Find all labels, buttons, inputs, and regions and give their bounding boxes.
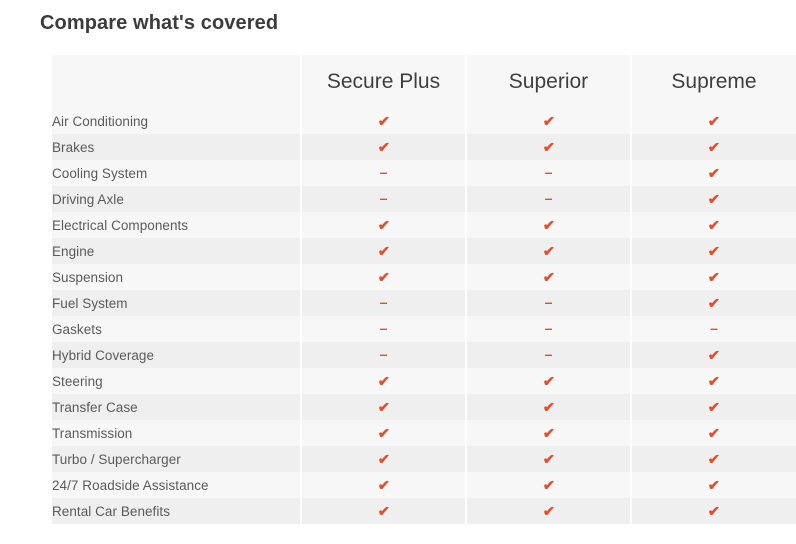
table-row: Air Conditioning✔✔✔ bbox=[52, 108, 796, 134]
table-row: Turbo / Supercharger✔✔✔ bbox=[52, 446, 796, 472]
feature-label: Cooling System bbox=[52, 160, 301, 186]
table-row: 24/7 Roadside Assistance✔✔✔ bbox=[52, 472, 796, 498]
coverage-cell-superior: ✔ bbox=[466, 212, 631, 238]
check-icon: ✔ bbox=[377, 498, 389, 524]
check-icon: ✔ bbox=[708, 342, 720, 368]
page-title: Compare what's covered bbox=[40, 9, 278, 37]
coverage-cell-supreme: ✔ bbox=[631, 290, 796, 316]
feature-label: Fuel System bbox=[52, 290, 301, 316]
check-icon: ✔ bbox=[708, 368, 720, 394]
coverage-cell-superior: – bbox=[466, 160, 631, 186]
coverage-cell-secure-plus: ✔ bbox=[301, 394, 466, 420]
dash-icon: – bbox=[545, 341, 553, 367]
coverage-cell-supreme: ✔ bbox=[631, 420, 796, 446]
check-icon: ✔ bbox=[542, 134, 554, 160]
coverage-cell-supreme: ✔ bbox=[631, 342, 796, 368]
coverage-cell-secure-plus: – bbox=[301, 186, 466, 212]
table-row: Fuel System––✔ bbox=[52, 290, 796, 316]
dash-icon: – bbox=[545, 289, 553, 315]
coverage-comparison-table: Secure Plus Superior Supreme Air Conditi… bbox=[52, 55, 796, 524]
feature-label: Gaskets bbox=[52, 316, 301, 342]
check-icon: ✔ bbox=[542, 108, 554, 134]
feature-label: 24/7 Roadside Assistance bbox=[52, 472, 301, 498]
coverage-cell-superior: ✔ bbox=[466, 420, 631, 446]
check-icon: ✔ bbox=[377, 108, 389, 134]
check-icon: ✔ bbox=[377, 472, 389, 498]
check-icon: ✔ bbox=[542, 368, 554, 394]
coverage-cell-supreme: ✔ bbox=[631, 160, 796, 186]
table-row: Suspension✔✔✔ bbox=[52, 264, 796, 290]
check-icon: ✔ bbox=[377, 394, 389, 420]
check-icon: ✔ bbox=[377, 212, 389, 238]
table-row: Transfer Case✔✔✔ bbox=[52, 394, 796, 420]
check-icon: ✔ bbox=[708, 186, 720, 212]
coverage-cell-secure-plus: – bbox=[301, 290, 466, 316]
check-icon: ✔ bbox=[708, 498, 720, 524]
dash-icon: – bbox=[380, 341, 388, 367]
coverage-cell-secure-plus: ✔ bbox=[301, 446, 466, 472]
check-icon: ✔ bbox=[542, 394, 554, 420]
check-icon: ✔ bbox=[708, 212, 720, 238]
coverage-cell-secure-plus: – bbox=[301, 316, 466, 342]
feature-label: Electrical Components bbox=[52, 212, 301, 238]
dash-icon: – bbox=[380, 315, 388, 341]
check-icon: ✔ bbox=[377, 420, 389, 446]
check-icon: ✔ bbox=[542, 264, 554, 290]
coverage-cell-supreme: ✔ bbox=[631, 238, 796, 264]
check-icon: ✔ bbox=[377, 238, 389, 264]
coverage-cell-secure-plus: ✔ bbox=[301, 238, 466, 264]
coverage-cell-secure-plus: – bbox=[301, 342, 466, 368]
coverage-cell-supreme: ✔ bbox=[631, 472, 796, 498]
coverage-cell-supreme: ✔ bbox=[631, 186, 796, 212]
dash-icon: – bbox=[380, 185, 388, 211]
coverage-cell-secure-plus: ✔ bbox=[301, 212, 466, 238]
coverage-cell-supreme: ✔ bbox=[631, 446, 796, 472]
coverage-cell-secure-plus: ✔ bbox=[301, 420, 466, 446]
column-header-superior: Superior bbox=[466, 55, 631, 108]
column-header-supreme: Supreme bbox=[631, 55, 796, 108]
feature-label: Steering bbox=[52, 368, 301, 394]
check-icon: ✔ bbox=[542, 446, 554, 472]
table-body: Air Conditioning✔✔✔Brakes✔✔✔Cooling Syst… bbox=[52, 108, 796, 524]
coverage-cell-superior: – bbox=[466, 342, 631, 368]
table-row: Cooling System––✔ bbox=[52, 160, 796, 186]
coverage-cell-secure-plus: ✔ bbox=[301, 368, 466, 394]
check-icon: ✔ bbox=[377, 134, 389, 160]
table-header: Secure Plus Superior Supreme bbox=[52, 55, 796, 108]
feature-label: Transfer Case bbox=[52, 394, 301, 420]
check-icon: ✔ bbox=[708, 394, 720, 420]
coverage-cell-superior: – bbox=[466, 316, 631, 342]
feature-label: Suspension bbox=[52, 264, 301, 290]
coverage-cell-supreme: ✔ bbox=[631, 212, 796, 238]
table-row: Steering✔✔✔ bbox=[52, 368, 796, 394]
check-icon: ✔ bbox=[377, 264, 389, 290]
feature-label: Driving Axle bbox=[52, 186, 301, 212]
table-row: Electrical Components✔✔✔ bbox=[52, 212, 796, 238]
check-icon: ✔ bbox=[708, 290, 720, 316]
check-icon: ✔ bbox=[708, 160, 720, 186]
dash-icon: – bbox=[710, 315, 718, 341]
page-root: Compare what's covered Secure Plus Super… bbox=[0, 0, 796, 544]
coverage-cell-supreme: ✔ bbox=[631, 108, 796, 134]
coverage-cell-superior: ✔ bbox=[466, 238, 631, 264]
check-icon: ✔ bbox=[708, 472, 720, 498]
coverage-cell-superior: ✔ bbox=[466, 134, 631, 160]
dash-icon: – bbox=[545, 185, 553, 211]
dash-icon: – bbox=[545, 159, 553, 185]
coverage-cell-supreme: ✔ bbox=[631, 134, 796, 160]
coverage-cell-superior: – bbox=[466, 290, 631, 316]
column-header-feature bbox=[52, 55, 301, 108]
column-header-secure-plus: Secure Plus bbox=[301, 55, 466, 108]
check-icon: ✔ bbox=[708, 446, 720, 472]
coverage-cell-superior: ✔ bbox=[466, 446, 631, 472]
table-row: Transmission✔✔✔ bbox=[52, 420, 796, 446]
coverage-cell-secure-plus: ✔ bbox=[301, 134, 466, 160]
coverage-cell-superior: ✔ bbox=[466, 368, 631, 394]
check-icon: ✔ bbox=[708, 108, 720, 134]
coverage-cell-superior: ✔ bbox=[466, 108, 631, 134]
feature-label: Brakes bbox=[52, 134, 301, 160]
coverage-cell-secure-plus: ✔ bbox=[301, 498, 466, 524]
check-icon: ✔ bbox=[708, 134, 720, 160]
check-icon: ✔ bbox=[542, 420, 554, 446]
coverage-cell-secure-plus: ✔ bbox=[301, 472, 466, 498]
coverage-cell-supreme: ✔ bbox=[631, 368, 796, 394]
table-row: Hybrid Coverage––✔ bbox=[52, 342, 796, 368]
coverage-cell-secure-plus: – bbox=[301, 160, 466, 186]
feature-label: Engine bbox=[52, 238, 301, 264]
coverage-cell-superior: ✔ bbox=[466, 394, 631, 420]
coverage-cell-supreme: ✔ bbox=[631, 264, 796, 290]
coverage-cell-supreme: ✔ bbox=[631, 394, 796, 420]
table-row: Engine✔✔✔ bbox=[52, 238, 796, 264]
coverage-cell-superior: – bbox=[466, 186, 631, 212]
table-row: Driving Axle––✔ bbox=[52, 186, 796, 212]
coverage-cell-supreme: – bbox=[631, 316, 796, 342]
feature-label: Air Conditioning bbox=[52, 108, 301, 134]
coverage-cell-supreme: ✔ bbox=[631, 498, 796, 524]
check-icon: ✔ bbox=[542, 212, 554, 238]
table-row: Rental Car Benefits✔✔✔ bbox=[52, 498, 796, 524]
feature-label: Transmission bbox=[52, 420, 301, 446]
coverage-cell-secure-plus: ✔ bbox=[301, 108, 466, 134]
dash-icon: – bbox=[380, 159, 388, 185]
dash-icon: – bbox=[380, 289, 388, 315]
check-icon: ✔ bbox=[377, 446, 389, 472]
dash-icon: – bbox=[545, 315, 553, 341]
feature-label: Rental Car Benefits bbox=[52, 498, 301, 524]
check-icon: ✔ bbox=[542, 472, 554, 498]
header-row: Secure Plus Superior Supreme bbox=[52, 55, 796, 108]
check-icon: ✔ bbox=[377, 368, 389, 394]
coverage-cell-secure-plus: ✔ bbox=[301, 264, 466, 290]
table-row: Brakes✔✔✔ bbox=[52, 134, 796, 160]
feature-label: Hybrid Coverage bbox=[52, 342, 301, 368]
coverage-cell-superior: ✔ bbox=[466, 472, 631, 498]
coverage-cell-superior: ✔ bbox=[466, 264, 631, 290]
feature-label: Turbo / Supercharger bbox=[52, 446, 301, 472]
check-icon: ✔ bbox=[708, 238, 720, 264]
coverage-cell-superior: ✔ bbox=[466, 498, 631, 524]
check-icon: ✔ bbox=[542, 238, 554, 264]
check-icon: ✔ bbox=[542, 498, 554, 524]
table-row: Gaskets––– bbox=[52, 316, 796, 342]
check-icon: ✔ bbox=[708, 264, 720, 290]
check-icon: ✔ bbox=[708, 420, 720, 446]
